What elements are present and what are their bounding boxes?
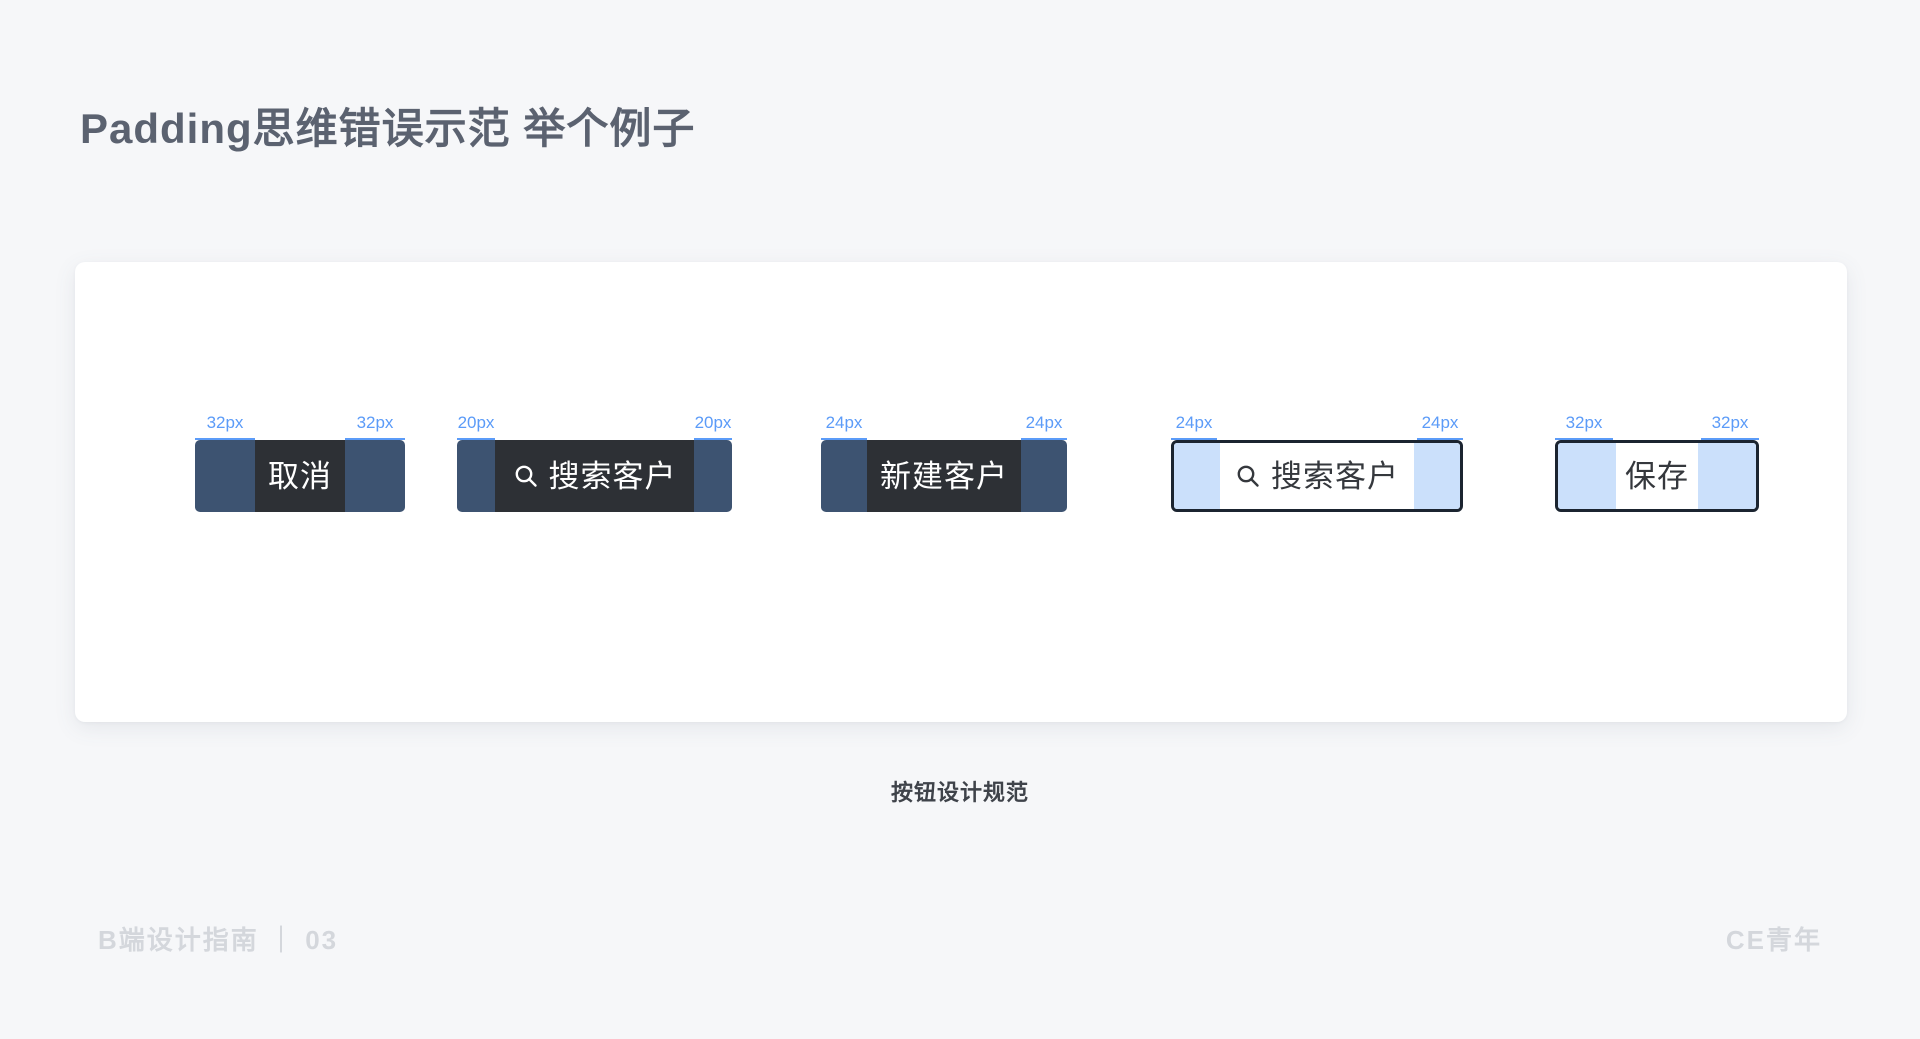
padding-annotation-right: 32px [1701,414,1759,440]
padding-block-left [821,440,867,512]
padding-annotations: 32px32px [1555,402,1759,440]
button-specimen-search-customer-dark: 20px20px搜索客户 [457,402,732,512]
padding-annotation-label: 20px [695,414,732,433]
padding-annotation-left: 20px [457,414,495,440]
cancel-button[interactable]: 取消 [195,440,405,512]
padding-annotation-label: 32px [1566,414,1603,433]
button-content: 取消 [255,440,345,512]
padding-block-left [195,440,255,512]
padding-annotation-right: 20px [694,414,732,440]
page-title: Padding思维错误示范 举个例子 [80,95,695,156]
save-button[interactable]: 保存 [1555,440,1759,512]
padding-block-right [694,440,732,512]
padding-annotation-label: 32px [207,414,244,433]
padding-annotation-label: 32px [1712,414,1749,433]
padding-annotation-left: 32px [195,414,255,440]
padding-annotations: 20px20px [457,402,732,440]
padding-annotation-label: 24px [826,414,863,433]
padding-block-left [1558,443,1616,509]
button-content: 搜索客户 [495,440,694,512]
button-label: 新建客户 [880,461,1008,492]
button-label: 取消 [268,461,332,492]
padding-annotation-right: 24px [1021,414,1067,440]
button-specimen-new-customer: 24px24px新建客户 [821,402,1067,512]
padding-annotation-label: 20px [458,414,495,433]
padding-block-right [345,440,405,512]
button-specimen-save: 32px32px保存 [1555,402,1759,512]
search-customer-dark-button[interactable]: 搜索客户 [457,440,732,512]
button-specimen-cancel: 32px32px取消 [195,402,405,512]
padding-annotation-left: 32px [1555,414,1613,440]
new-customer-button[interactable]: 新建客户 [821,440,1067,512]
padding-annotation-right: 24px [1417,414,1463,440]
padding-block-left [457,440,495,512]
padding-block-right [1021,440,1067,512]
button-content: 保存 [1616,443,1698,509]
button-specimen-search-customer-light: 24px24px搜索客户 [1171,402,1463,512]
padding-annotation-label: 24px [1026,414,1063,433]
padding-annotations: 32px32px [195,402,405,440]
padding-block-right [1698,443,1756,509]
button-content: 新建客户 [867,440,1021,512]
padding-annotation-left: 24px [1171,414,1217,440]
specimen-card: 32px32px取消20px20px搜索客户24px24px新建客户24px24… [75,262,1847,722]
padding-annotations: 24px24px [821,402,1067,440]
padding-annotation-label: 32px [357,414,394,433]
button-label: 保存 [1625,461,1689,492]
search-icon [513,463,539,489]
button-label: 搜索客户 [1271,461,1399,492]
padding-annotations: 24px24px [1171,402,1463,440]
button-content: 搜索客户 [1220,443,1414,509]
padding-annotation-left: 24px [821,414,867,440]
button-label: 搜索客户 [549,461,677,492]
footer-left-label: B端设计指南 ｜ 03 [98,920,338,957]
button-specimen-row: 32px32px取消20px20px搜索客户24px24px新建客户24px24… [75,262,1847,722]
padding-annotation-right: 32px [345,414,405,440]
padding-annotation-label: 24px [1176,414,1213,433]
card-caption: 按钮设计规范 [0,775,1920,807]
search-icon [1235,463,1261,489]
padding-block-right [1414,443,1460,509]
padding-annotation-label: 24px [1422,414,1459,433]
footer-right-label: CE青年 [1726,920,1822,957]
search-customer-light-button[interactable]: 搜索客户 [1171,440,1463,512]
padding-block-left [1174,443,1220,509]
